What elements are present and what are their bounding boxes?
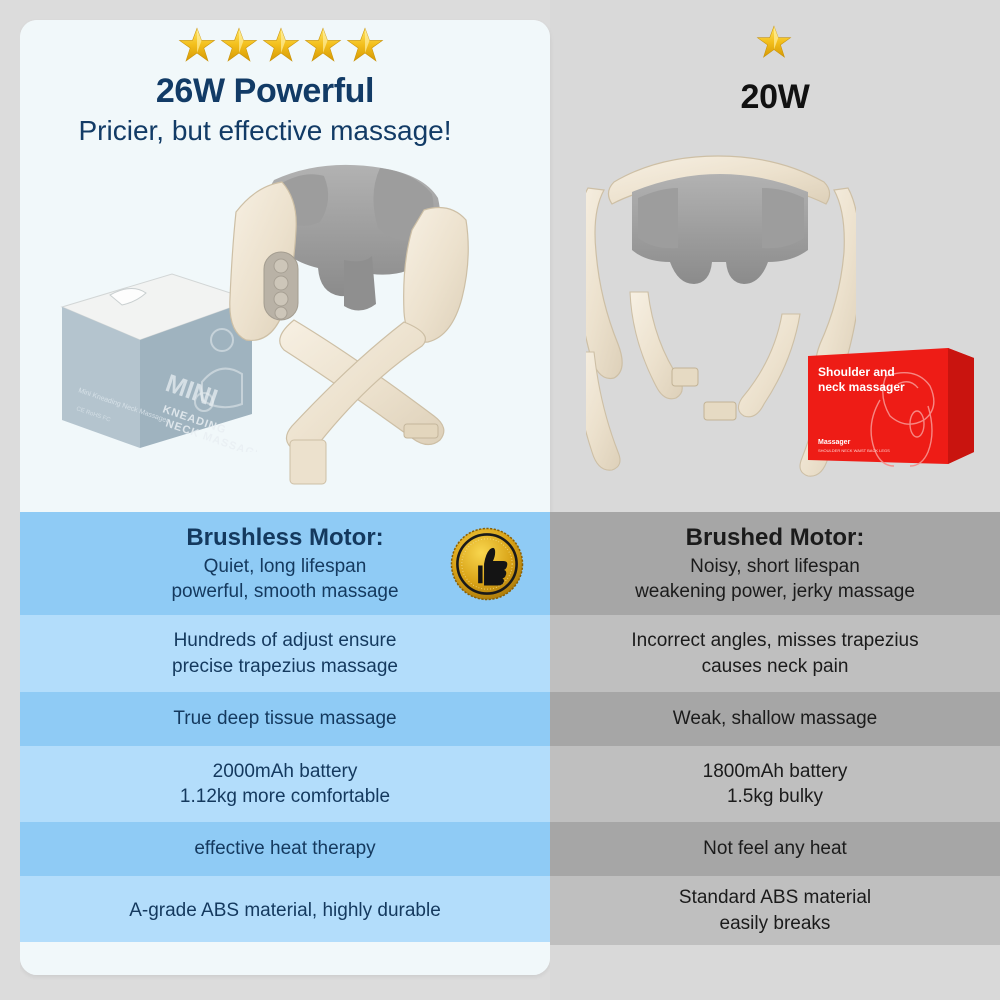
con-cell-line: 1.5kg bulky <box>727 784 823 809</box>
con-rating-stars <box>756 24 792 60</box>
pro-cell-line: A-grade ABS material, highly durable <box>129 898 441 923</box>
con-cell: Brushed Motor:Noisy, short lifespanweake… <box>550 512 1000 615</box>
pro-heading: 26W Powerful <box>0 72 530 110</box>
pro-subheading: Pricier, but effective massage! <box>0 114 530 148</box>
gold-star-icon <box>178 26 216 64</box>
pro-package-box: MINI KNEADING NECK MASSAGER Mini Kneadin… <box>52 262 257 452</box>
comparison-row: Brushless Motor:Quiet, long lifespanpowe… <box>0 512 1000 615</box>
pro-cell-line: powerful, smooth massage <box>171 579 398 604</box>
con-cell-line: 1800mAh battery <box>703 759 848 784</box>
comparison-row: Hundreds of adjust ensureprecise trapezi… <box>0 615 1000 692</box>
con-cell-title: Brushed Motor: <box>686 523 865 553</box>
comparison-row: 2000mAh battery1.12kg more comfortable18… <box>0 746 1000 822</box>
pro-cell: effective heat therapy <box>20 822 550 876</box>
infographic-canvas: 26W Powerful Pricier, but effective mass… <box>0 0 1000 1000</box>
svg-text:Shoulder and: Shoulder and <box>818 365 895 379</box>
gold-star-icon <box>220 26 258 64</box>
svg-text:SHOULDER NECK WAIST BACK LEGS: SHOULDER NECK WAIST BACK LEGS <box>818 448 890 453</box>
con-heading: 20W <box>550 78 1000 117</box>
pro-cell-line: effective heat therapy <box>194 836 375 861</box>
pro-cell-line: Hundreds of adjust ensure <box>174 628 397 653</box>
con-cell: Weak, shallow massage <box>550 692 1000 746</box>
con-cell: Standard ABS materialeasily breaks <box>550 876 1000 945</box>
svg-text:Massager: Massager <box>818 439 851 446</box>
pro-product-image <box>228 152 538 502</box>
comparison-row: True deep tissue massageWeak, shallow ma… <box>0 692 1000 746</box>
pro-cell: Brushless Motor:Quiet, long lifespanpowe… <box>20 512 550 615</box>
con-cell-line: Not feel any heat <box>703 836 847 861</box>
pro-cell: A-grade ABS material, highly durable <box>20 876 550 945</box>
con-package-box: Shoulder and neck massager Massager SHOU… <box>808 348 974 468</box>
con-cell-line: easily breaks <box>720 911 831 936</box>
pro-cell-line: precise trapezius massage <box>172 654 398 679</box>
con-cell-line: causes neck pain <box>702 654 849 679</box>
svg-text:neck massager: neck massager <box>818 380 905 394</box>
con-cell-line: Weak, shallow massage <box>673 706 878 731</box>
pro-rating-stars <box>178 26 384 64</box>
pro-cell-line: Quiet, long lifespan <box>204 554 367 579</box>
con-cell-line: weakening power, jerky massage <box>635 579 915 604</box>
con-cell: Incorrect angles, misses trapeziuscauses… <box>550 615 1000 692</box>
gold-star-icon <box>756 24 792 60</box>
thumbs-up-medal-icon <box>450 527 524 601</box>
gold-star-icon <box>262 26 300 64</box>
pro-cell-line: True deep tissue massage <box>173 706 396 731</box>
comparison-row: A-grade ABS material, highly durableStan… <box>0 876 1000 945</box>
con-cell: 1800mAh battery1.5kg bulky <box>550 746 1000 822</box>
gold-star-icon <box>304 26 342 64</box>
left-gutter <box>0 0 20 1000</box>
pro-card-footer <box>20 942 550 975</box>
con-column-footer <box>550 945 1000 1000</box>
comparison-row: effective heat therapyNot feel any heat <box>0 822 1000 876</box>
pro-heading-block: 26W Powerful Pricier, but effective mass… <box>0 72 530 148</box>
pro-cell-line: 2000mAh battery <box>213 759 358 784</box>
con-cell: Not feel any heat <box>550 822 1000 876</box>
pro-cell-title: Brushless Motor: <box>186 523 383 553</box>
con-cell-line: Noisy, short lifespan <box>690 554 860 579</box>
gold-star-icon <box>346 26 384 64</box>
pro-cell-line: 1.12kg more comfortable <box>180 784 390 809</box>
con-cell-line: Incorrect angles, misses trapezius <box>631 628 918 653</box>
pro-cell: 2000mAh battery1.12kg more comfortable <box>20 746 550 822</box>
pro-cell: Hundreds of adjust ensureprecise trapezi… <box>20 615 550 692</box>
thumbs-up-badge <box>450 527 524 601</box>
con-cell-line: Standard ABS material <box>679 885 871 910</box>
pro-cell: True deep tissue massage <box>20 692 550 746</box>
comparison-table: Brushless Motor:Quiet, long lifespanpowe… <box>0 512 1000 945</box>
